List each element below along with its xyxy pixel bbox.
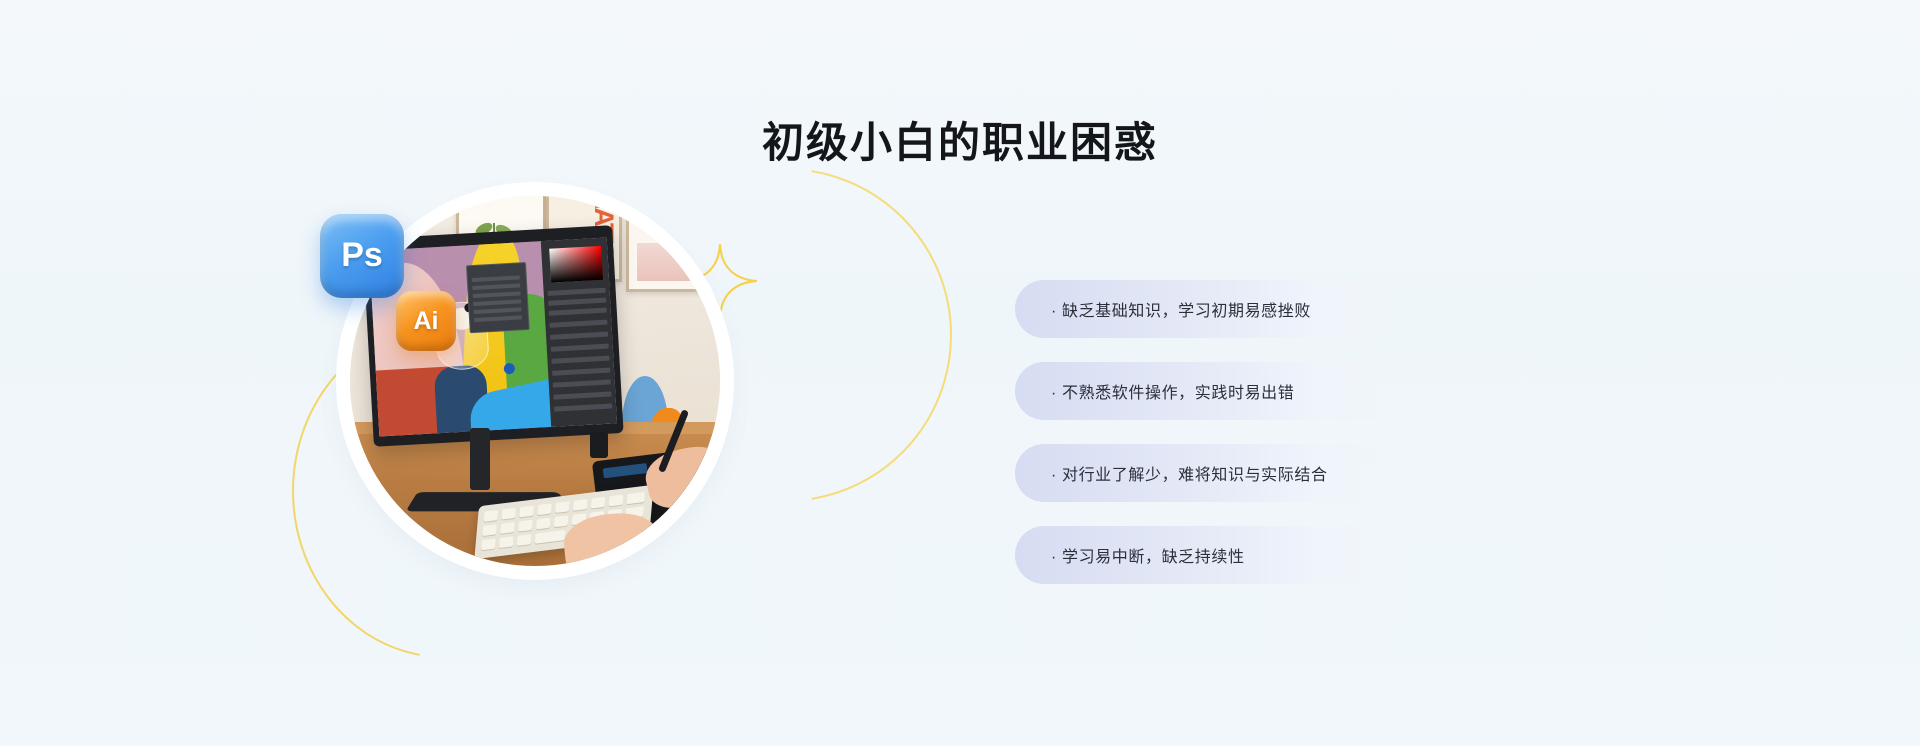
photoshop-panel — [541, 238, 617, 427]
list-item-label: · 不熟悉软件操作，实践时易出错 — [1015, 379, 1294, 403]
pain-point-list: · 缺乏基础知识，学习初期易感挫败 · 不熟悉软件操作，实践时易出错 · 对行业… — [1015, 280, 1405, 608]
photoshop-icon: Ps — [320, 214, 404, 298]
list-item[interactable]: · 对行业了解少，难将知识与实际结合 — [1015, 444, 1405, 502]
hero-photo: MATISSE — [350, 196, 720, 566]
list-item-label: · 缺乏基础知识，学习初期易感挫败 — [1015, 297, 1311, 321]
illustrator-icon-label: Ai — [414, 307, 439, 336]
list-item-label: · 学习易中断，缺乏持续性 — [1015, 543, 1245, 567]
monitor-stand-neck — [470, 428, 490, 490]
pen-cup — [590, 432, 608, 458]
landing-section: 初级小白的职业困惑 MATISSE — [0, 0, 1920, 746]
page-title: 初级小白的职业困惑 — [0, 118, 1920, 168]
list-item-label: · 对行业了解少，难将知识与实际结合 — [1015, 461, 1328, 485]
color-picker-swatch — [549, 246, 603, 283]
hero-visual: MATISSE — [350, 196, 870, 666]
list-item[interactable]: · 不熟悉软件操作，实践时易出错 — [1015, 362, 1405, 420]
photoshop-floating-panel — [466, 262, 530, 333]
list-item[interactable]: · 缺乏基础知识，学习初期易感挫败 — [1015, 280, 1405, 338]
wall-frame-abstract — [626, 210, 720, 292]
illustrator-icon: Ai — [396, 291, 456, 351]
photoshop-icon-label: Ps — [341, 236, 383, 275]
list-item[interactable]: · 学习易中断，缺乏持续性 — [1015, 526, 1405, 584]
